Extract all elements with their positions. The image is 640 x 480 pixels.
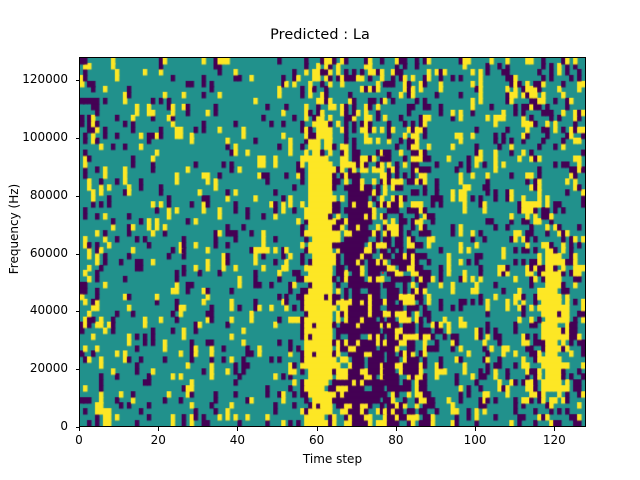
x-tick-label: 20 [128, 433, 188, 447]
x-tick [475, 427, 476, 431]
x-tick-label: 100 [445, 433, 505, 447]
y-tick-label: 40000 [0, 303, 68, 317]
y-axis-label: Frequency (Hz) [7, 159, 21, 299]
y-tick [76, 254, 80, 255]
x-tick-label: 80 [366, 433, 426, 447]
y-tick [76, 311, 80, 312]
y-tick [76, 196, 80, 197]
y-tick [76, 80, 80, 81]
x-tick-label: 60 [287, 433, 347, 447]
heatmap-image [80, 58, 585, 426]
y-tick-label: 100000 [0, 130, 68, 144]
matplotlib-figure: Predicted : La 0204060801001200200004000… [0, 0, 640, 480]
x-tick-label: 40 [207, 433, 267, 447]
y-tick [76, 427, 80, 428]
x-tick [237, 427, 238, 431]
x-tick-label: 0 [49, 433, 109, 447]
y-tick-label: 120000 [0, 72, 68, 86]
y-tick [76, 138, 80, 139]
y-tick-label: 20000 [0, 361, 68, 375]
y-tick-label: 0 [0, 419, 68, 433]
chart-title: Predicted : La [0, 27, 640, 43]
x-tick [79, 427, 80, 431]
x-tick [317, 427, 318, 431]
x-tick [158, 427, 159, 431]
x-tick [396, 427, 397, 431]
y-tick [76, 369, 80, 370]
heatmap-axes [79, 57, 586, 427]
x-tick-label: 120 [524, 433, 584, 447]
x-tick [554, 427, 555, 431]
x-axis-label: Time step [79, 452, 586, 466]
